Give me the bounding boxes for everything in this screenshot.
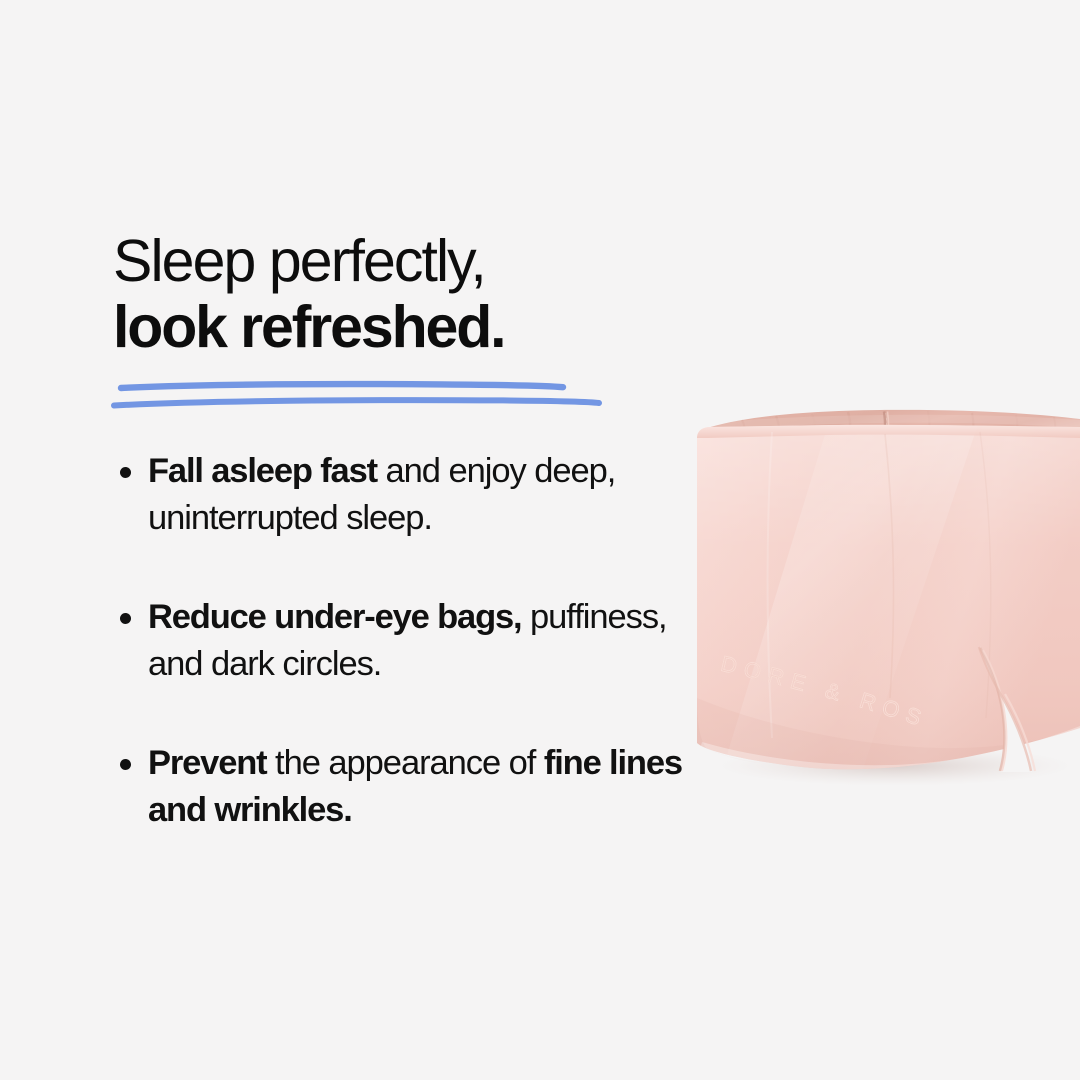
benefit-rest: the appearance of [267, 744, 544, 782]
bullet-dot-icon [120, 613, 131, 624]
headline: Sleep perfectly, look refreshed. [113, 228, 688, 360]
benefit-item: Reduce under-eye bags, puffiness, and da… [113, 594, 698, 688]
benefits-list: Fall asleep fast and enjoy deep, uninter… [113, 448, 698, 834]
product-benefits-graphic: Sleep perfectly, look refreshed. Fall as… [0, 0, 1080, 1080]
headline-underline [113, 374, 633, 418]
copy-block: Sleep perfectly, look refreshed. [113, 228, 688, 360]
benefit-text: Prevent the appearance of fine lines and… [148, 740, 698, 834]
underline-stroke-bottom [114, 400, 599, 405]
product-image-sleep-mask: DORE & ROSE DORE & ROSE [680, 398, 1080, 798]
benefit-bold-lead: Fall asleep fast [148, 452, 377, 490]
underline-stroke-top [121, 384, 563, 388]
benefit-bold-lead: Prevent [148, 744, 267, 782]
benefit-text: Fall asleep fast and enjoy deep, uninter… [148, 448, 698, 542]
benefit-item: Prevent the appearance of fine lines and… [113, 740, 698, 834]
bullet-dot-icon [120, 467, 131, 478]
mask-front-panel [697, 418, 1080, 778]
headline-line-1: Sleep perfectly, [113, 228, 688, 294]
headline-line-2: look refreshed. [113, 294, 688, 360]
benefit-text: Reduce under-eye bags, puffiness, and da… [148, 594, 698, 688]
bullet-dot-icon [120, 759, 131, 770]
benefit-bold-lead: Reduce under-eye bags, [148, 598, 522, 636]
benefit-item: Fall asleep fast and enjoy deep, uninter… [113, 448, 698, 542]
